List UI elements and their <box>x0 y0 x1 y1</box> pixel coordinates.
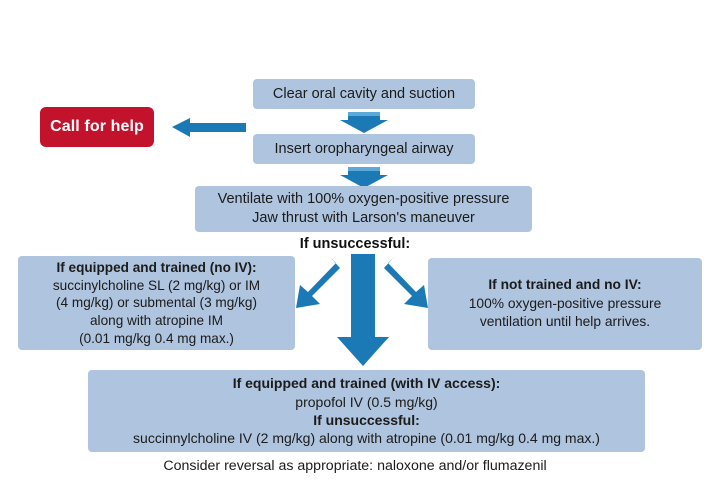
node-insert-oropharyngeal-airway[interactable]: Insert oropharyngeal airway <box>253 134 475 164</box>
node-ventilate-line-1: Ventilate with 100% oxygen-positive pres… <box>218 190 510 209</box>
label-if-unsuccessful: If unsuccessful: <box>0 236 710 252</box>
node-clear-oral-cavity[interactable]: Clear oral cavity and suction <box>253 79 475 109</box>
node-no-iv-line-3: (4 mg/kg) or submental (3 mg/kg) <box>56 294 257 312</box>
flowchart-canvas: Clear oral cavity and suction Insert oro… <box>0 0 710 500</box>
node-not-trained-and-no-iv[interactable]: If not trained and no IV: 100% oxygen-po… <box>428 258 702 350</box>
node-not-trained-line-3: ventilation until help arrives. <box>480 313 650 331</box>
diagonal-arrow-down-right <box>384 257 428 308</box>
node-not-trained-line-2: 100% oxygen-positive pressure <box>469 295 662 313</box>
node-with-iv-line-3: If unsuccessful: <box>313 411 420 429</box>
left-arrow-to-call-for-help <box>172 118 246 137</box>
node-no-iv-line-5: (0.01 mg/kg 0.4 mg max.) <box>79 330 234 348</box>
down-arrow-main <box>337 254 389 366</box>
node-equipped-and-trained-with-iv[interactable]: If equipped and trained (with IV access)… <box>88 370 645 452</box>
node-no-iv-line-1: If equipped and trained (no IV): <box>56 259 256 277</box>
node-with-iv-line-4: succinnylcholine IV (2 mg/kg) along with… <box>133 429 600 447</box>
node-no-iv-line-2: succinylcholine SL (2 mg/kg) or IM <box>53 277 260 295</box>
diagonal-arrow-down-left <box>296 257 340 308</box>
node-no-iv-line-4: along with atropine IM <box>90 312 223 330</box>
node-with-iv-line-2: propofol IV (0.5 mg/kg) <box>295 393 437 411</box>
node-call-for-help[interactable]: Call for help <box>40 107 154 147</box>
node-ventilate[interactable]: Ventilate with 100% oxygen-positive pres… <box>195 186 532 232</box>
node-insert-airway-label: Insert oropharyngeal airway <box>275 140 454 159</box>
node-ventilate-line-2: Jaw thrust with Larson's maneuver <box>252 209 475 228</box>
node-with-iv-line-1: If equipped and trained (with IV access)… <box>233 374 501 392</box>
node-clear-oral-cavity-label: Clear oral cavity and suction <box>273 85 455 104</box>
down-arrow-airway-to-ventilate <box>340 167 388 188</box>
node-equipped-and-trained-no-iv[interactable]: If equipped and trained (no IV): succiny… <box>18 256 295 350</box>
node-not-trained-line-1: If not trained and no IV: <box>488 276 641 294</box>
down-arrow-clear-to-airway <box>340 112 388 133</box>
node-call-for-help-label: Call for help <box>50 117 144 137</box>
label-consider-reversal: Consider reversal as appropriate: naloxo… <box>0 458 710 474</box>
